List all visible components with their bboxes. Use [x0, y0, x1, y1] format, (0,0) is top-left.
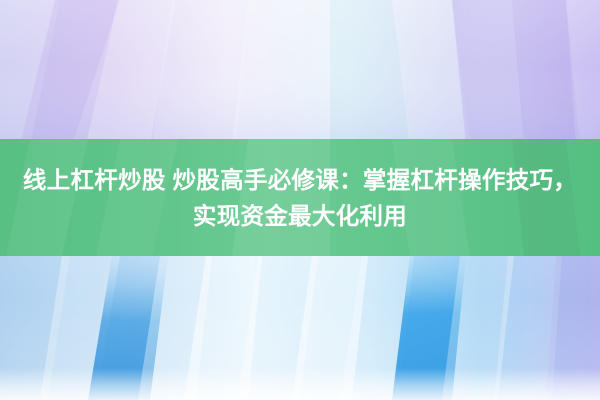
article-cover-banner: 线上杠杆炒股 炒股高手必修课：掌握杠杆操作技巧，实现资金最大化利用 — [0, 0, 600, 400]
page-title: 线上杠杆炒股 炒股高手必修课：掌握杠杆操作技巧，实现资金最大化利用 — [11, 162, 589, 234]
title-band: 线上杠杆炒股 炒股高手必修课：掌握杠杆操作技巧，实现资金最大化利用 — [0, 139, 600, 256]
